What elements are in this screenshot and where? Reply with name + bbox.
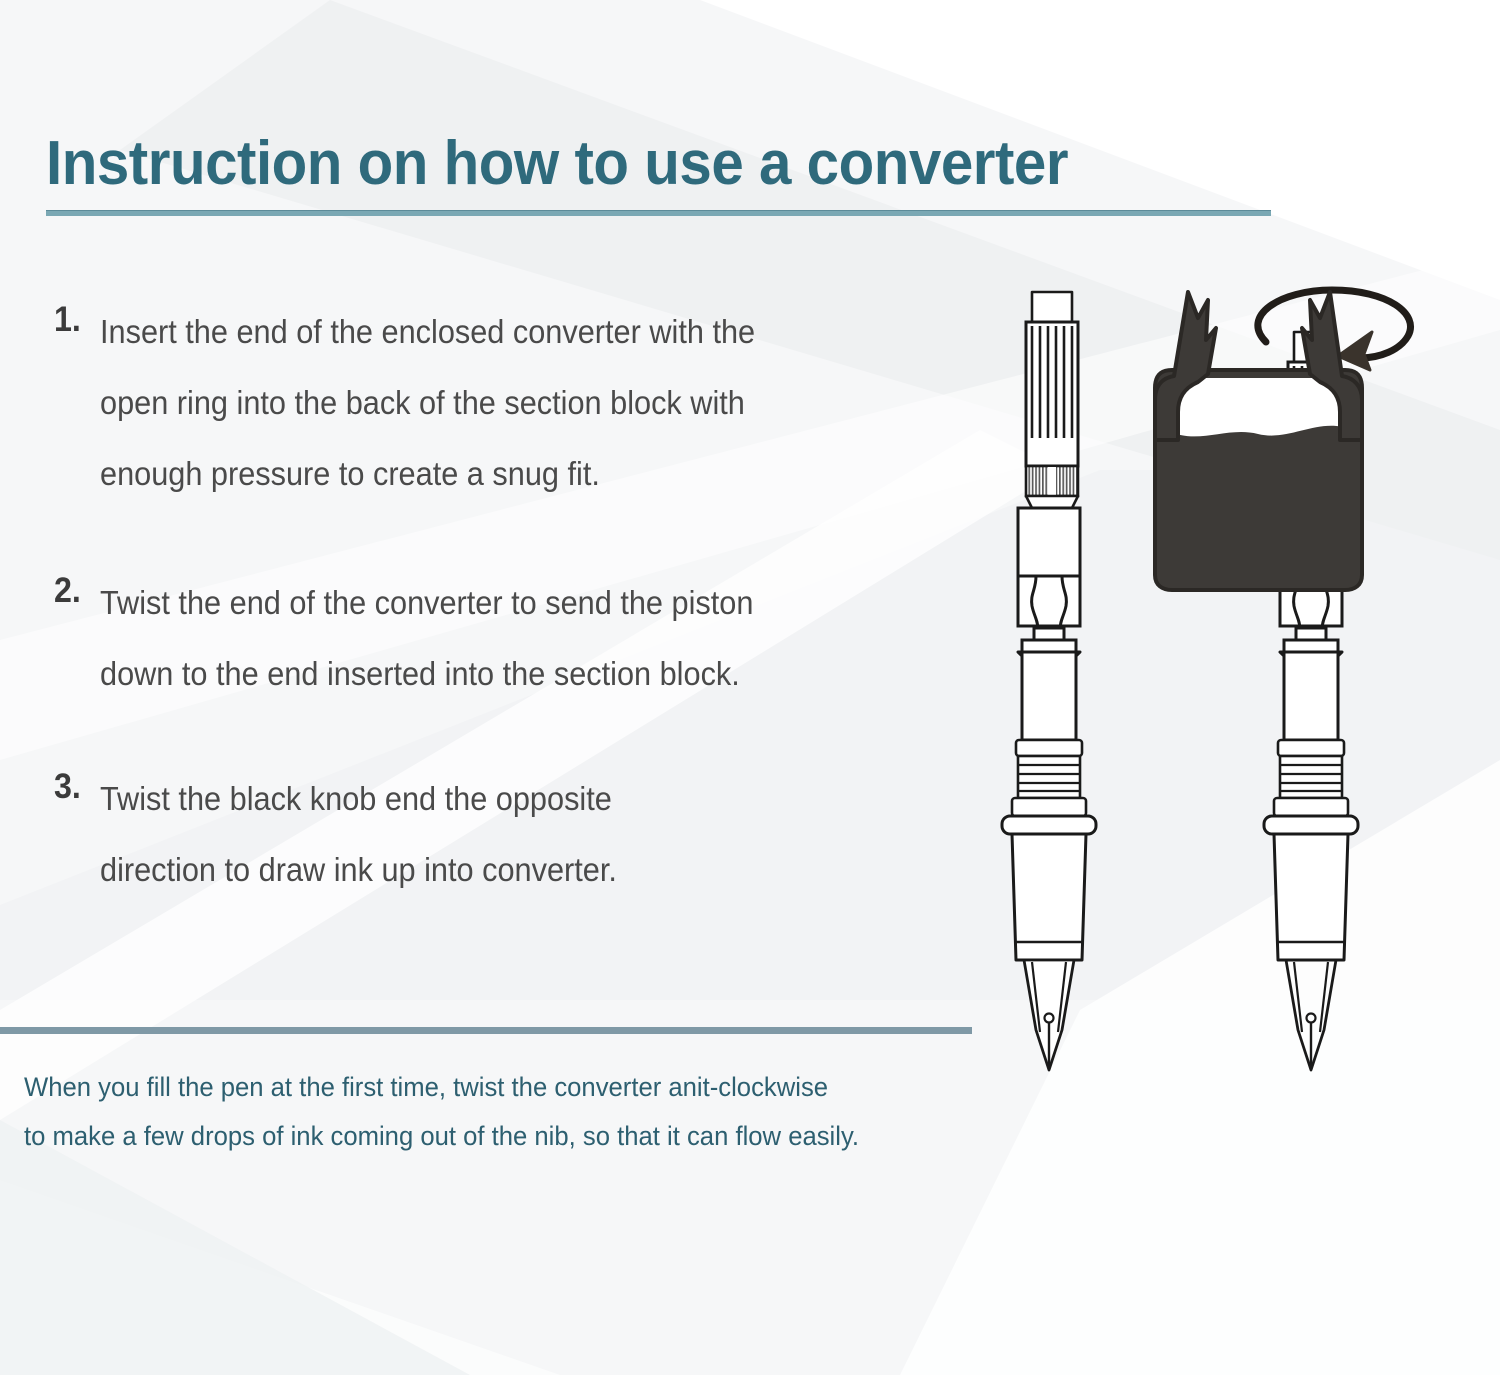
section-collar-flange [1002,816,1096,834]
pen-illustration-group [940,270,1500,1080]
page-title: Instruction on how to use a converter [46,128,1212,200]
page-title-block: Instruction on how to use a converter [46,128,1286,216]
pen-nib [1024,960,1074,1070]
list-item-step-3: 3. Twist the black knob end the opposite… [54,763,984,905]
section-collar-flange-right [1264,816,1358,834]
list-item-step-2: 2. Twist the end of the converter to sen… [54,567,984,709]
step-number-1: 1. [54,296,81,344]
converter-knob [1026,322,1078,466]
converter-body-lower [1018,576,1080,626]
step-text-2: Twist the end of the converter to send t… [100,567,922,709]
step-text-1: Insert the end of the enclosed converter… [100,296,922,509]
step-number-3: 3. [54,763,81,811]
instruction-poster: Instruction on how to use a converter 1.… [0,0,1500,1375]
converter-barrel-right [1284,652,1338,740]
converter-hatch-gap [1048,467,1056,495]
footer-note: When you fill the pen at the first time,… [24,1063,1003,1161]
footer-divider-rule [0,1027,972,1034]
step-number-2: 2. [54,567,81,615]
step-text-3: Twist the black knob end the opposite di… [100,763,922,905]
pen-nib-in-ink [1286,960,1336,1070]
section-threads-right [1274,740,1348,816]
title-underline-rule [46,210,1271,216]
converter-barrel [1022,652,1076,740]
list-item-step-1: 1. Insert the end of the enclosed conver… [54,296,984,509]
instruction-step-list: 1. Insert the end of the enclosed conver… [54,296,984,963]
converter-shoulder [1026,496,1078,508]
section-threads [1012,740,1086,816]
converter-body-upper [1018,508,1080,576]
converter-knob-cap [1032,292,1072,322]
pen-figure-left [1002,292,1096,1070]
